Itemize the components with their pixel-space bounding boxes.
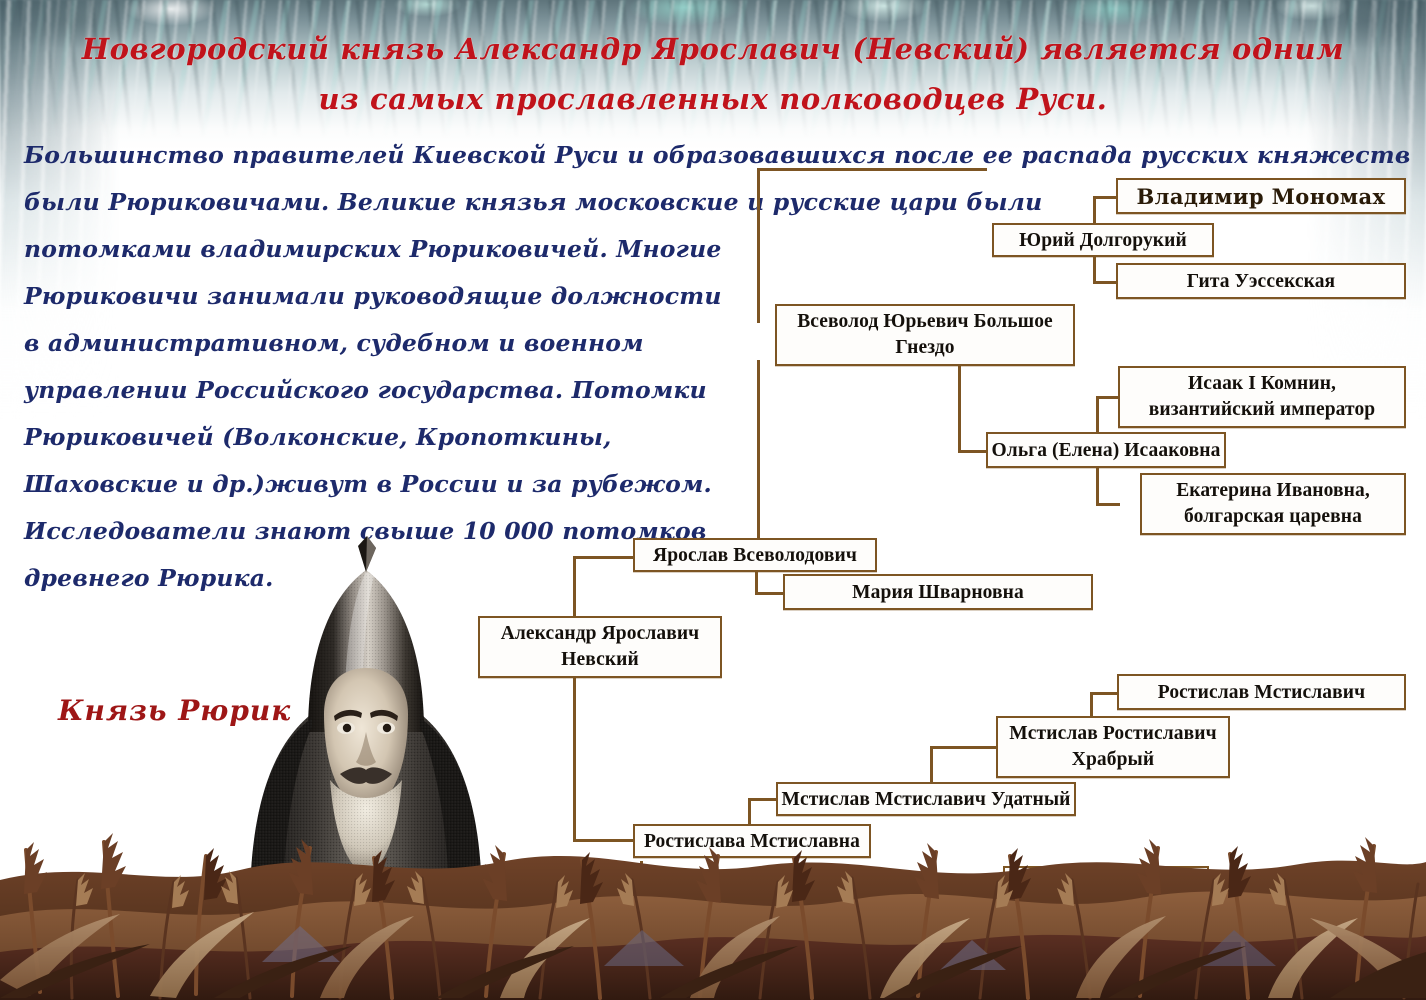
node-yaroslav-vsevolodovich[interactable]: Ярослав Всеволодович xyxy=(633,538,877,572)
node-label: Ростислав Мстиславич xyxy=(1158,680,1365,705)
connector-to-gita xyxy=(1093,281,1117,284)
node-olga-elena[interactable]: Ольга (Елена) Исааковна xyxy=(986,432,1226,468)
node-gita-wessex[interactable]: Гита Уэссекская xyxy=(1116,263,1406,299)
node-rostislav-mstislavich[interactable]: Ростислав Мстиславич xyxy=(1117,674,1406,710)
node-isaak-komnin[interactable]: Исаак I Комнин, византийский император xyxy=(1118,366,1406,428)
node-label: Ольга (Елена) Исааковна xyxy=(992,438,1221,463)
node-label: Исаак I Комнин, византийский император xyxy=(1128,371,1396,423)
node-yuri-dolgoruky[interactable]: Юрий Долгорукий xyxy=(992,223,1214,257)
node-label: Юрий Долгорукий xyxy=(1019,228,1187,253)
node-label: Ярослав Всеволодович xyxy=(653,543,857,568)
node-vladimir-monomah[interactable]: Владимир Мономах xyxy=(1116,178,1406,214)
connector-to-rostislav-m xyxy=(1090,692,1118,695)
node-label: Александр Ярославич Невский xyxy=(486,621,714,673)
connector-to-isaak xyxy=(1096,396,1120,399)
connector-father-branch xyxy=(573,556,635,559)
node-alexander-nevsky[interactable]: Александр Ярославич Невский xyxy=(478,616,722,678)
connector-to-monomah xyxy=(1093,196,1117,199)
connector-yaroslav-down xyxy=(757,360,760,556)
node-label: Всеволод Юрьевич Большое Гнездо xyxy=(785,309,1065,361)
node-label: Мария Шварновна xyxy=(852,580,1024,605)
poster-canvas: Новгородский князь Александр Ярославич (… xyxy=(0,0,1426,1000)
node-maria-shvarnovna[interactable]: Мария Шварновна xyxy=(783,574,1093,610)
node-ekaterina-ivanovna[interactable]: Екатерина Ивановна, болгарская царевна xyxy=(1140,473,1406,535)
grass-field-illustration xyxy=(0,730,1426,1000)
node-label: Гита Уэссекская xyxy=(1187,269,1335,294)
connector-branch-yuri xyxy=(757,168,987,171)
connector-vsevolod-spouse xyxy=(958,355,961,453)
connector-vsevolod-to-parents xyxy=(757,168,760,323)
connector-to-ekaterina xyxy=(1096,503,1120,506)
connector-to-maria-shv xyxy=(755,592,785,595)
node-vsevolod-big-nest[interactable]: Всеволод Юрьевич Большое Гнездо xyxy=(775,304,1075,366)
connector-to-olga xyxy=(958,450,988,453)
node-label: Екатерина Ивановна, болгарская царевна xyxy=(1150,478,1396,530)
node-label: Владимир Мономах xyxy=(1137,184,1386,209)
